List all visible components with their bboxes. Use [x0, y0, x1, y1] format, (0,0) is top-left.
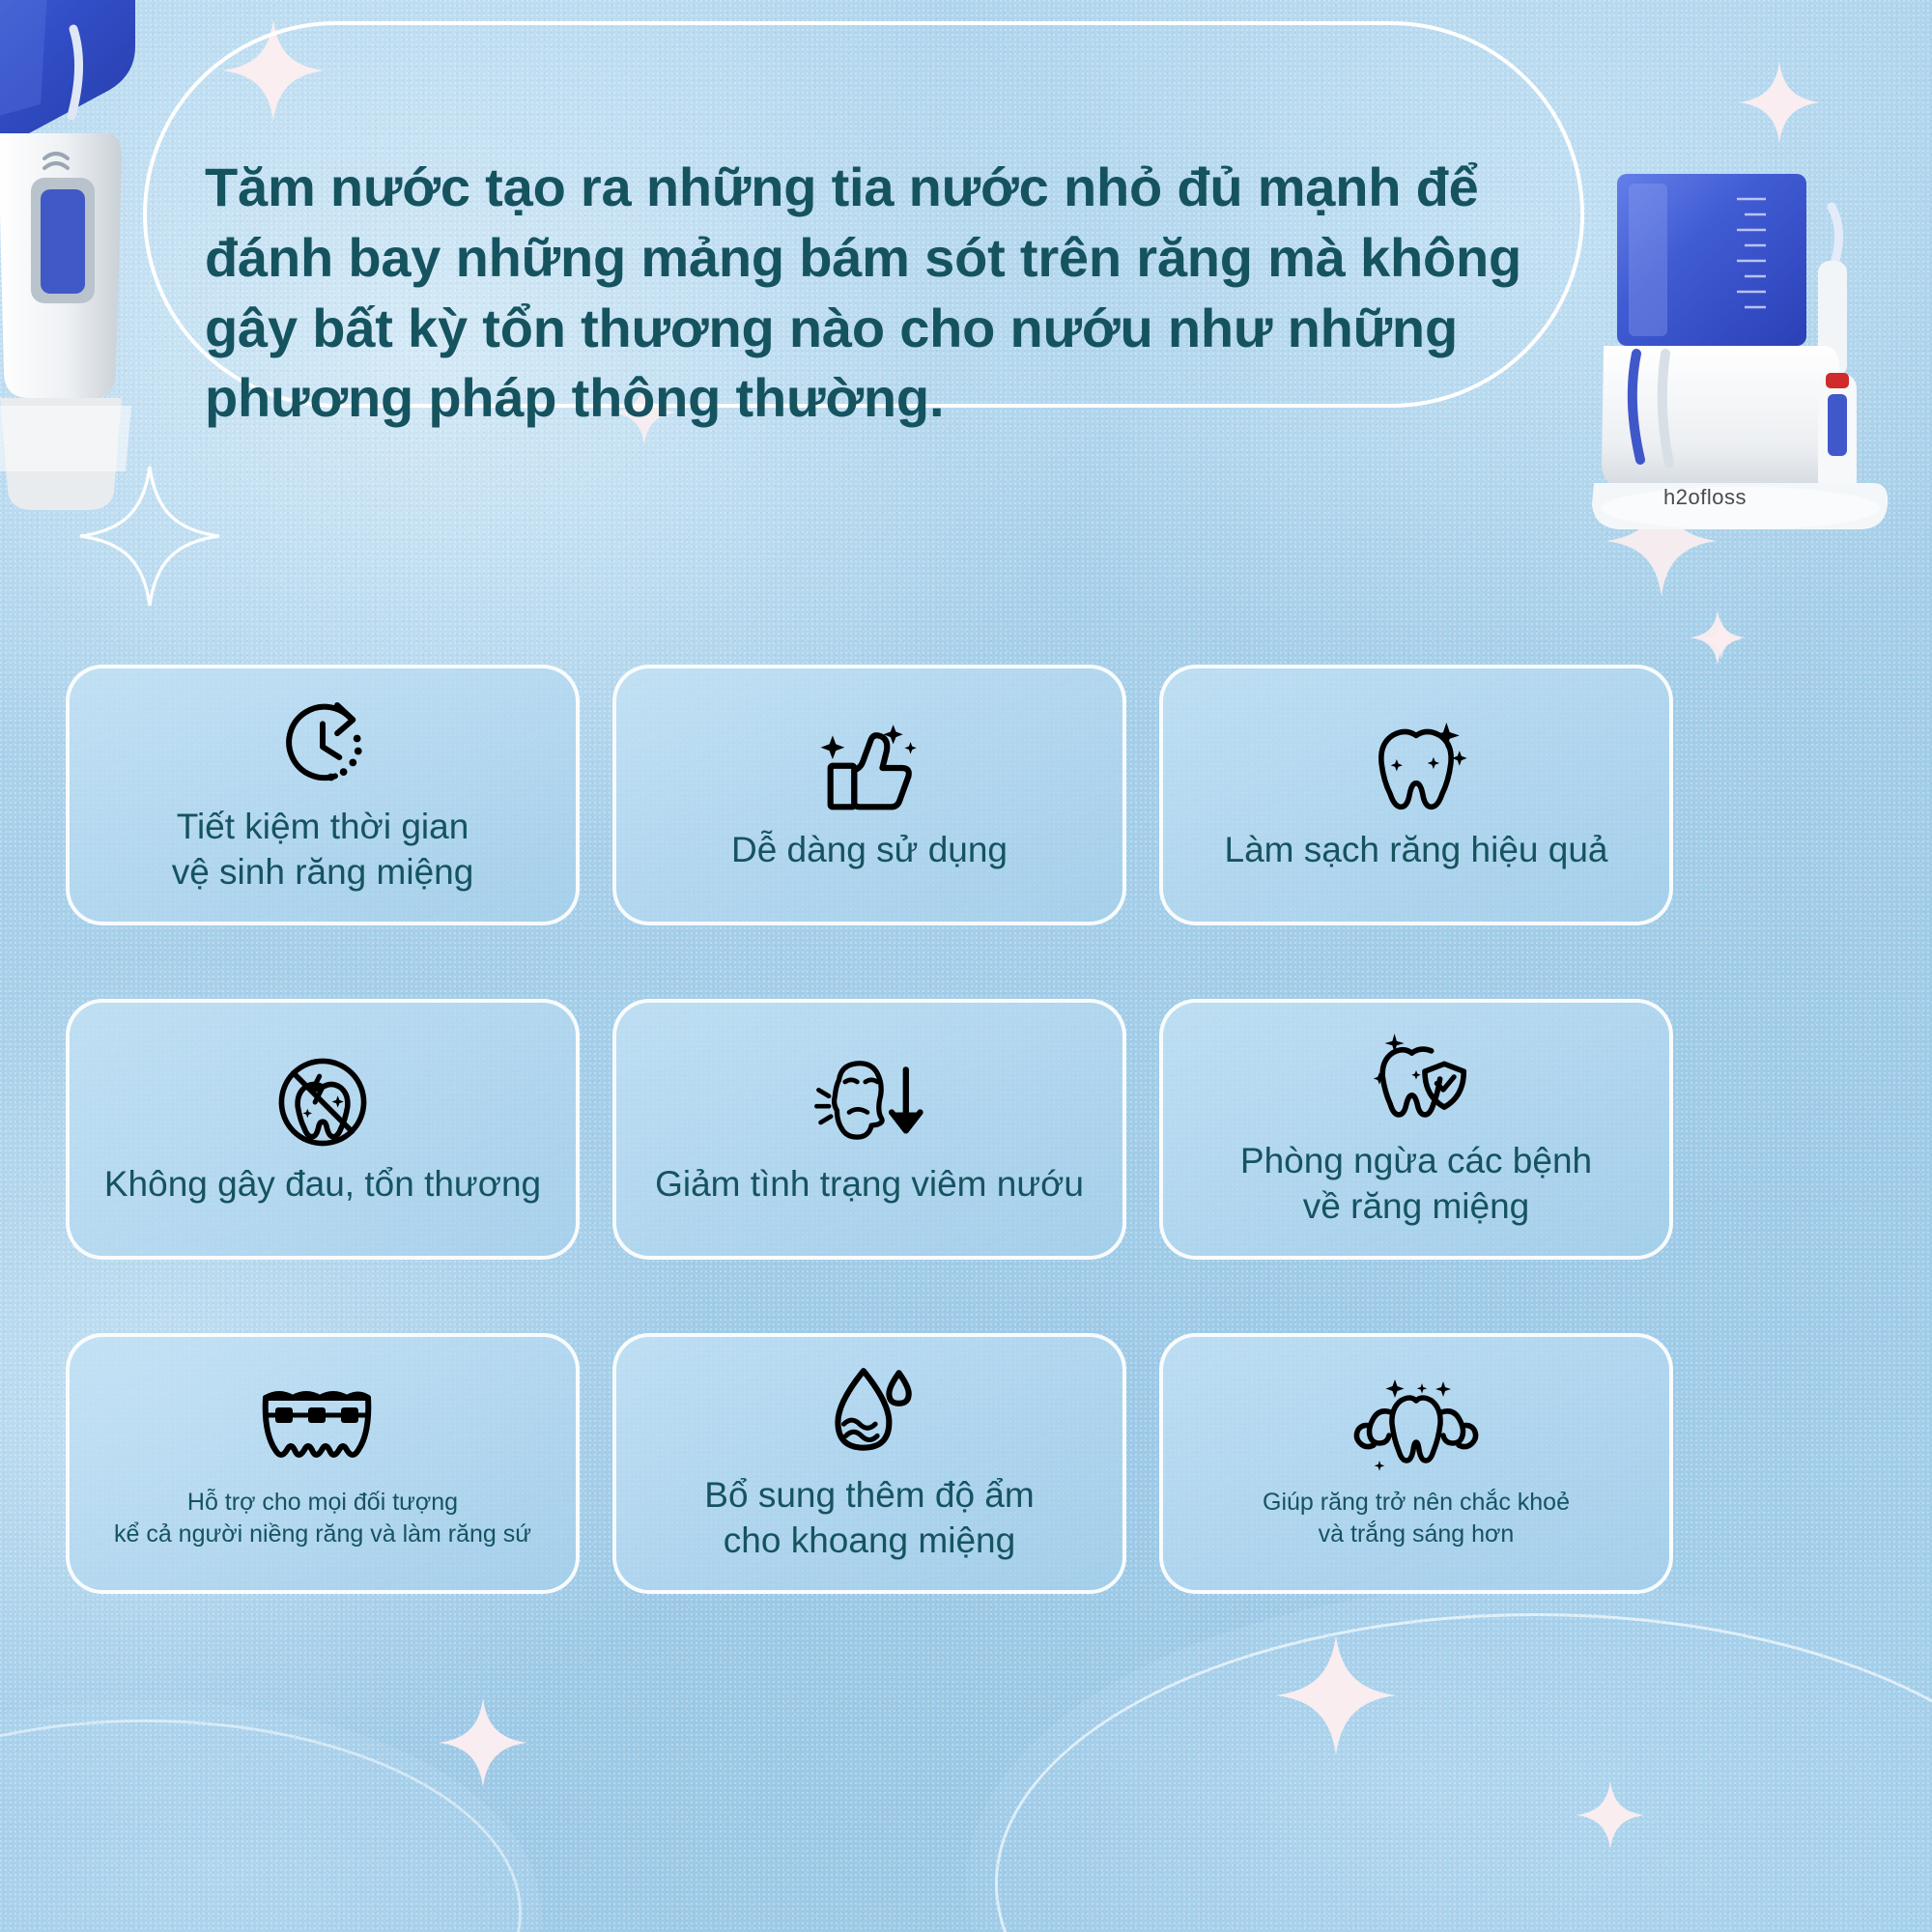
page-title: Tăm nước tạo ra những tia nước nhỏ đủ mạ…	[205, 153, 1577, 434]
feature-card[interactable]: Bổ sung thêm độ ẩm cho khoang miệng	[612, 1333, 1126, 1594]
feature-label: Tiết kiệm thời gian vệ sinh răng miệng	[172, 805, 474, 895]
feature-label: Làm sạch răng hiệu quả	[1225, 828, 1608, 873]
thumbs-up-sparkle-icon	[815, 714, 923, 822]
feature-card[interactable]: Giảm tình trạng viêm nướu	[612, 999, 1126, 1260]
feature-card[interactable]: Không gây đau, tổn thương	[66, 999, 580, 1260]
feature-label: Không gây đau, tổn thương	[104, 1162, 541, 1207]
feature-card[interactable]: Làm sạch răng hiệu quả	[1159, 665, 1673, 925]
feature-label: Phòng ngừa các bệnh về răng miệng	[1240, 1139, 1592, 1229]
feature-label: Giảm tình trạng viêm nướu	[655, 1162, 1084, 1207]
product-image-right: h2ofloss	[1590, 164, 1909, 551]
feature-card[interactable]: Hỗ trợ cho mọi đối tượng kể cả người niề…	[66, 1333, 580, 1594]
feature-card[interactable]: Phòng ngừa các bệnh về răng miệng	[1159, 999, 1673, 1260]
clock-refresh-icon	[270, 691, 375, 799]
tooth-shield-icon	[1362, 1025, 1470, 1133]
strong-tooth-muscle-icon	[1349, 1373, 1484, 1481]
gum-inflammation-down-icon	[809, 1048, 930, 1156]
sparkling-tooth-icon	[1362, 714, 1470, 822]
water-drop-icon	[819, 1359, 920, 1467]
feature-label: Giúp răng trở nên chắc khoẻ và trắng sán…	[1263, 1487, 1570, 1551]
no-pain-tooth-icon	[269, 1048, 377, 1156]
feature-card-grid: Tiết kiệm thời gian vệ sinh răng miệng D…	[66, 665, 1866, 1594]
feature-card[interactable]: Giúp răng trở nên chắc khoẻ và trắng sán…	[1159, 1333, 1673, 1594]
feature-label: Hỗ trợ cho mọi đối tượng kể cả người niề…	[114, 1487, 531, 1551]
feature-card[interactable]: Tiết kiệm thời gian vệ sinh răng miệng	[66, 665, 580, 925]
braces-teeth-icon	[250, 1373, 395, 1481]
feature-card[interactable]: Dễ dàng sử dụng	[612, 665, 1126, 925]
feature-label: Dễ dàng sử dụng	[731, 828, 1008, 873]
feature-label: Bổ sung thêm độ ẩm cho khoang miệng	[704, 1473, 1034, 1563]
brand-logo: h2ofloss	[1663, 485, 1747, 510]
